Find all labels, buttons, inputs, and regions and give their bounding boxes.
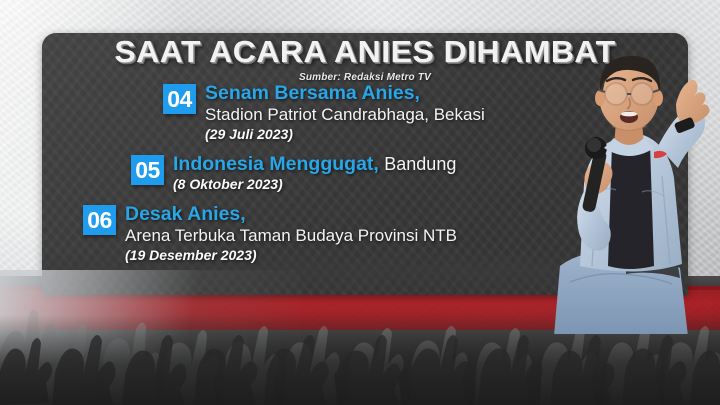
- item-venue: Bandung: [384, 154, 456, 174]
- item-title-text: Indonesia Menggugat,: [173, 153, 379, 175]
- item-title-text: Senam Bersama Anies,: [205, 82, 420, 104]
- item-text-block: Desak Anies, Arena Terbuka Taman Budaya …: [125, 203, 457, 265]
- item-title-text: Desak Anies,: [125, 203, 246, 225]
- item-venue: Stadion Patriot Candrabhaga, Bekasi: [205, 104, 485, 125]
- item-number-badge: 05: [131, 155, 164, 185]
- item-date: (29 Juli 2023): [205, 125, 485, 144]
- speaker-photo: [530, 34, 720, 334]
- item-text-block: Senam Bersama Anies, Stadion Patriot Can…: [205, 82, 485, 144]
- item-number-badge: 04: [163, 84, 196, 114]
- item-number-badge: 06: [83, 205, 116, 235]
- item-text-block: Indonesia Menggugat, Bandung (8 Oktober …: [173, 153, 456, 194]
- item-date: (8 Oktober 2023): [173, 175, 456, 194]
- item-title: Indonesia Menggugat, Bandung: [173, 153, 456, 175]
- item-date: (19 Desember 2023): [125, 246, 457, 265]
- item-title: Senam Bersama Anies,: [205, 82, 485, 104]
- item-venue: Arena Terbuka Taman Budaya Provinsi NTB: [125, 225, 457, 246]
- infographic-canvas: SAAT ACARA ANIES DIHAMBAT Sumber: Redaks…: [0, 0, 720, 405]
- item-title: Desak Anies,: [125, 203, 457, 225]
